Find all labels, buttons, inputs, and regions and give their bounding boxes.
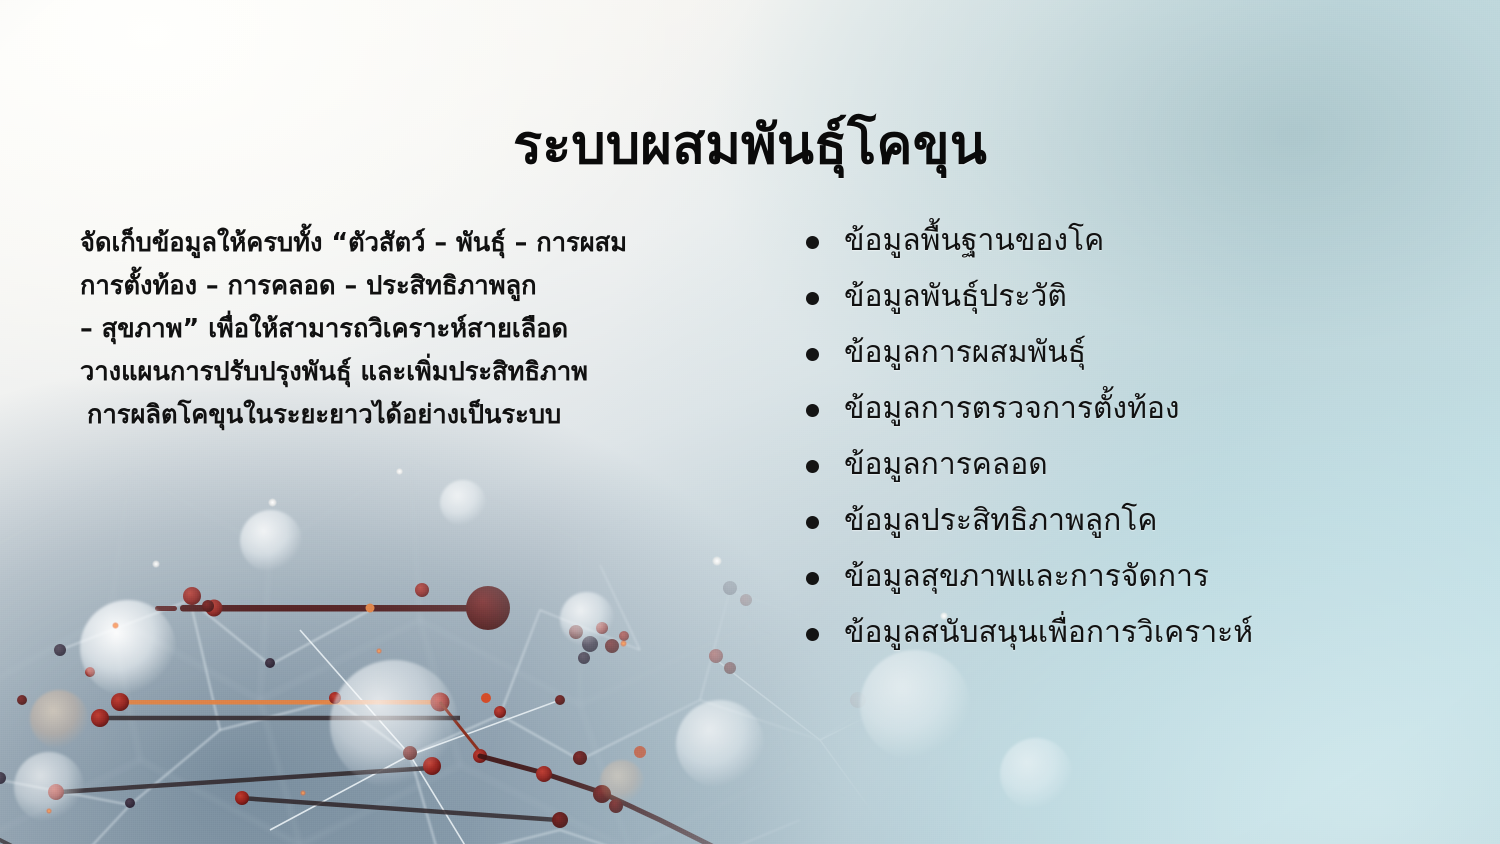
lead-paragraph-line: – สุขภาพ” เพื่อให้สามารถวิเคราะห์สายเลือ… <box>80 308 780 351</box>
list-item-label: ข้อมูลสุขภาพและการจัดการ <box>844 552 1209 602</box>
bullet-marker-icon <box>806 460 819 473</box>
list-item: ข้อมูลการคลอด <box>806 440 1456 496</box>
list-item-label: ข้อมูลพันธุ์ประวัติ <box>844 272 1067 322</box>
list-item: ข้อมูลพันธุ์ประวัติ <box>806 272 1456 328</box>
bullet-marker-icon <box>806 348 819 361</box>
list-item-label: ข้อมูลการคลอด <box>844 440 1048 490</box>
lead-paragraph-line: วางแผนการปรับปรุงพันธุ์ และเพิ่มประสิทธิ… <box>80 351 780 394</box>
list-item-label: ข้อมูลการผสมพันธุ์ <box>844 328 1086 378</box>
list-item: ข้อมูลการตรวจการตั้งท้อง <box>806 384 1456 440</box>
list-item-label: ข้อมูลพื้นฐานของโค <box>844 216 1104 266</box>
page-title: ระบบผสมพันธุ์โคขุน <box>0 114 1500 176</box>
list-item-label: ข้อมูลสนับสนุนเพื่อการวิเคราะห์ <box>844 608 1253 658</box>
lead-paragraph-line: การตั้งท้อง – การคลอด – ประสิทธิภาพลูก <box>80 265 780 308</box>
bullet-marker-icon <box>806 404 819 417</box>
list-item-label: ข้อมูลการตรวจการตั้งท้อง <box>844 384 1180 434</box>
data-category-list: ข้อมูลพื้นฐานของโค ข้อมูลพันธุ์ประวัติ ข… <box>806 216 1456 664</box>
bullet-marker-icon <box>806 236 819 249</box>
list-item: ข้อมูลการผสมพันธุ์ <box>806 328 1456 384</box>
bullet-marker-icon <box>806 572 819 585</box>
lead-paragraph-line: การผลิตโคขุนในระยะยาวได้อย่างเป็นระบบ <box>80 394 780 437</box>
slide-content: ระบบผสมพันธุ์โคขุน จัดเก็บข้อมูลให้ครบทั… <box>0 0 1500 844</box>
list-item: ข้อมูลประสิทธิภาพลูกโค <box>806 496 1456 552</box>
lead-paragraph-line: จัดเก็บข้อมูลให้ครบทั้ง “ตัวสัตว์ – พันธ… <box>80 222 780 265</box>
bullet-marker-icon <box>806 516 819 529</box>
list-item-label: ข้อมูลประสิทธิภาพลูกโค <box>844 496 1157 546</box>
bullet-marker-icon <box>806 628 819 641</box>
slide-canvas: ระบบผสมพันธุ์โคขุน จัดเก็บข้อมูลให้ครบทั… <box>0 0 1500 844</box>
list-item: ข้อมูลสนับสนุนเพื่อการวิเคราะห์ <box>806 608 1456 664</box>
bullet-marker-icon <box>806 292 819 305</box>
list-item: ข้อมูลสุขภาพและการจัดการ <box>806 552 1456 608</box>
list-item: ข้อมูลพื้นฐานของโค <box>806 216 1456 272</box>
lead-paragraph: จัดเก็บข้อมูลให้ครบทั้ง “ตัวสัตว์ – พันธ… <box>80 222 780 437</box>
